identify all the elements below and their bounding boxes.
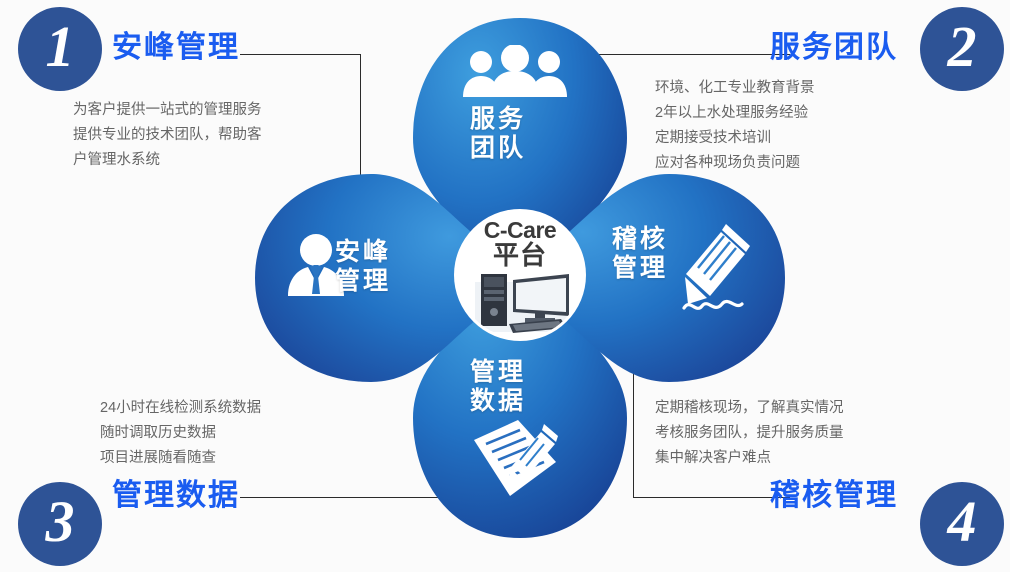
infographic-canvas: 1 2 3 4 安峰管理 服务团队 管理数据 稽核管理 为客户提供一站式的管理服… [0, 0, 1010, 572]
quadrant-3-line-3: 项目进展随看随查 [100, 446, 261, 471]
petal-left-label-line1: 安峰 [335, 238, 391, 267]
petal-right-label: 稽核 管理 [612, 225, 668, 283]
petal-top-label-line2: 团队 [470, 134, 526, 163]
quadrant-1-heading: 安峰管理 [112, 22, 240, 66]
petal-right-label-line2: 管理 [612, 254, 668, 283]
petal-left-label: 安峰 管理 [335, 238, 391, 296]
number-badge-2: 2 [920, 7, 1004, 91]
number-badge-3-value: 3 [46, 493, 75, 551]
number-badge-1: 1 [18, 7, 102, 91]
petal-left-label-line2: 管理 [335, 267, 391, 296]
petal-bottom-label-line2: 数据 [470, 387, 526, 416]
desktop-computer-icon [457, 212, 583, 338]
number-badge-4: 4 [920, 482, 1004, 566]
petal-top-label: 服务 团队 [470, 105, 526, 163]
petal-bottom-label: 管理 数据 [470, 358, 526, 416]
quadrant-1-line-2: 提供专业的技术团队，帮助客 [73, 123, 262, 148]
number-badge-1-value: 1 [46, 18, 75, 76]
people-group-icon [461, 45, 569, 99]
quadrant-3-heading: 管理数据 [112, 470, 240, 514]
petal-right-label-line1: 稽核 [612, 225, 668, 254]
pencil-signature-icon [680, 222, 756, 318]
petal-bottom-label-line1: 管理 [470, 358, 526, 387]
quadrant-1-line-1: 为客户提供一站式的管理服务 [73, 98, 262, 123]
clipboard-pencil-icon [472, 412, 560, 504]
quadrant-3-line-2: 随时调取历史数据 [100, 421, 261, 446]
quadrant-3-description: 24小时在线检测系统数据 随时调取历史数据 项目进展随看随查 [100, 396, 261, 471]
quadrant-3-line-1: 24小时在线检测系统数据 [100, 396, 261, 421]
center-hub[interactable]: C-Care 平台 [457, 212, 583, 338]
quadrant-1-line-3: 户管理水系统 [73, 148, 262, 173]
petal-top-label-line1: 服务 [470, 105, 526, 134]
quadrant-1-description: 为客户提供一站式的管理服务 提供专业的技术团队，帮助客 户管理水系统 [73, 98, 262, 173]
number-badge-4-value: 4 [948, 493, 977, 551]
quadrant-2-heading: 服务团队 [770, 22, 898, 66]
number-badge-3: 3 [18, 482, 102, 566]
quadrant-4-heading: 稽核管理 [770, 470, 898, 514]
number-badge-2-value: 2 [948, 18, 977, 76]
